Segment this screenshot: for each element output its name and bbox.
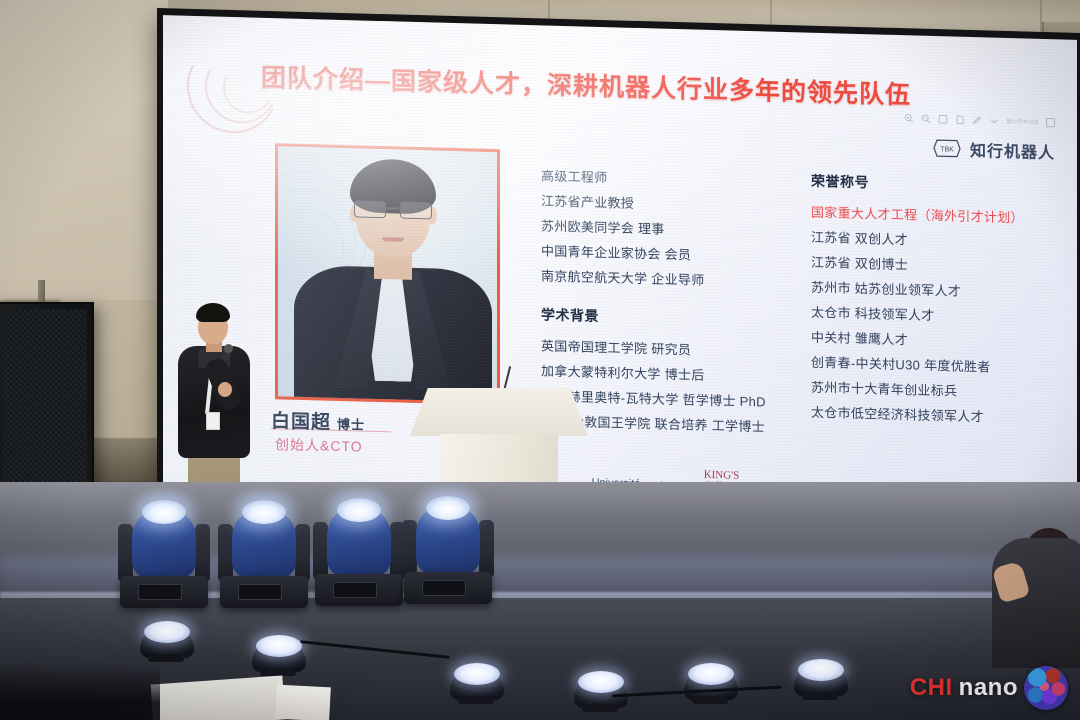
chinano-sphere-icon — [1024, 666, 1068, 710]
watermark-text-1: CHI — [910, 674, 953, 702]
moving-head-light — [402, 496, 494, 604]
column-honors: 荣誉称号 国家重大人才工程（海外引才计划） 江苏省 双创人才 江苏省 双创博士 … — [811, 171, 1061, 432]
profile-name: 白国超博士 — [271, 406, 365, 436]
eyeglasses-icon — [352, 200, 434, 220]
slide-surface: 团队介绍—国家级人才，深耕机器人行业多年的领先队伍 — [163, 15, 1077, 543]
chinano-watermark: CHInano — [910, 666, 1068, 710]
slide-title: 团队介绍—国家级人才，深耕机器人行业多年的领先队伍 — [261, 58, 911, 112]
ppt-mini-toolbar[interactable]: 第02页共10页 — [904, 113, 1055, 127]
par-light — [136, 618, 198, 664]
par-light — [570, 668, 632, 714]
profile-photo-card — [275, 143, 500, 405]
par-light — [248, 632, 310, 678]
moving-head-light — [118, 500, 210, 608]
pen-icon[interactable] — [972, 115, 982, 125]
page-indicator: 第02页共10页 — [1006, 117, 1039, 125]
page-view-icon[interactable] — [955, 115, 965, 125]
list-item: 太仓市低空经济科技领军人才 — [811, 400, 1061, 432]
profile-degree: 博士 — [337, 417, 365, 433]
name-badge — [206, 412, 220, 430]
zoom-in-icon[interactable] — [904, 113, 914, 123]
moving-head-light — [218, 500, 310, 608]
honors-heading: 荣誉称号 — [811, 171, 1061, 198]
conference-stage-photo: 团队介绍—国家级人才，深耕机器人行业多年的领先队伍 — [0, 0, 1080, 720]
wall-left-block — [0, 0, 168, 300]
brand-logo: TBK 知行机器人 — [931, 136, 1055, 163]
honors-list: 国家重大人才工程（海外引才计划） 江苏省 双创人才 江苏省 双创博士 苏州市 姑… — [811, 200, 1061, 432]
par-light — [446, 660, 508, 706]
fullscreen-icon[interactable] — [1046, 118, 1055, 127]
brand-mark-icon: TBK — [931, 136, 963, 161]
par-light — [790, 656, 852, 702]
fit-page-icon[interactable] — [938, 114, 948, 124]
audience-person — [992, 538, 1080, 668]
brand-name: 知行机器人 — [970, 137, 1055, 163]
led-presentation-screen: 团队介绍—国家级人才，深耕机器人行业多年的领先队伍 — [157, 8, 1080, 549]
titles-list: 高级工程师 江苏省产业教授 苏州欧美同学会 理事 中国青年企业家协会 会员 南京… — [541, 163, 809, 295]
watermark-text-2: nano — [959, 674, 1018, 702]
chevron-down-icon[interactable] — [989, 116, 999, 126]
par-light — [680, 660, 742, 706]
foreground-card — [275, 685, 331, 720]
zoom-out-icon[interactable] — [921, 114, 931, 124]
svg-text:TBK: TBK — [940, 146, 954, 153]
moving-head-light — [313, 498, 405, 606]
